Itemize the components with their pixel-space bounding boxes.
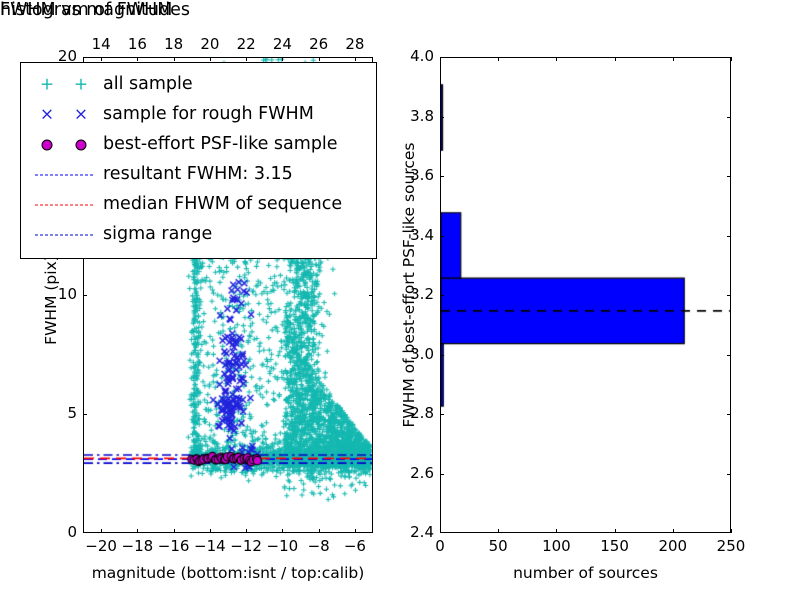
histogram-ytick-mark (440, 117, 444, 118)
scatter-xtick-mark (210, 529, 211, 533)
right-panel-title: histogram of FWHM (0, 0, 172, 20)
scatter-top-xtick-mark (246, 57, 247, 61)
histogram-ytick-mark (440, 414, 444, 415)
histogram-ytick-mark (727, 236, 731, 237)
histogram-top-xtick-mark (731, 57, 732, 61)
histogram-xtick-mark (673, 529, 674, 533)
histogram-ytick-mark (727, 532, 731, 533)
histogram-axes (440, 57, 731, 533)
histogram-y-axis-label: FWHM of best-effort PSF-like sources (400, 50, 418, 520)
histogram-ytick-mark (727, 355, 731, 356)
scatter-xtick-label: −6 (330, 537, 380, 555)
scatter-top-xtick-mark (174, 57, 175, 61)
scatter-top-xtick-mark (319, 57, 320, 61)
legend-item-label: all sample (99, 76, 193, 94)
scatter-xtick-mark (282, 529, 283, 533)
legend-item-label: median FHWM of sequence (99, 196, 342, 214)
histogram-xtick-label: 150 (590, 537, 640, 555)
dashdot-line-icon (29, 222, 99, 248)
scatter-x-axis-label: magnitude (bottom:isnt / top:calib) (83, 564, 373, 582)
histogram-top-xtick-mark (498, 57, 499, 61)
legend-item[interactable]: sigma range (21, 220, 376, 250)
legend-box: + + all sample × × sample for rough FWHM… (20, 62, 377, 259)
histogram-ytick-mark (440, 236, 444, 237)
scatter-top-xtick-mark (101, 57, 102, 61)
legend-item-label: sample for rough FWHM (99, 106, 314, 124)
scatter-ytick-mark (369, 57, 373, 58)
histogram-ytick-mark (727, 414, 731, 415)
histogram-ytick-mark (727, 57, 731, 58)
legend-item-label: resultant FWHM: 3.15 (99, 166, 293, 184)
histogram-ytick-mark (440, 295, 444, 296)
scatter-xtick-mark (319, 529, 320, 533)
histogram-x-axis-label: number of sources (440, 564, 731, 582)
histogram-xtick-label: 250 (706, 537, 756, 555)
histogram-xtick-label: 200 (648, 537, 698, 555)
legend-item[interactable]: best-effort PSF-like sample (21, 130, 376, 160)
histogram-ytick-mark (440, 474, 444, 475)
scatter-ytick-mark (369, 295, 373, 296)
cross-marker-icon: × × (29, 102, 99, 128)
scatter-ytick-label: 0 (31, 523, 77, 541)
histogram-ytick-mark (440, 355, 444, 356)
scatter-top-xtick-mark (355, 57, 356, 61)
dashed-line-icon (29, 192, 99, 218)
histogram-xtick-mark (498, 529, 499, 533)
histogram-top-xtick-mark (673, 57, 674, 61)
scatter-xtick-mark (246, 529, 247, 533)
legend-item-label: best-effort PSF-like sample (99, 136, 338, 154)
scatter-xtick-mark (355, 529, 356, 533)
histogram-ytick-mark (727, 117, 731, 118)
legend-item[interactable]: + + all sample (21, 70, 376, 100)
histogram-ytick-mark (440, 57, 444, 58)
scatter-xtick-mark (174, 529, 175, 533)
scatter-ytick-label: 5 (31, 404, 77, 422)
histogram-ytick-mark (727, 176, 731, 177)
scatter-ytick-mark (369, 532, 373, 533)
legend-item[interactable]: resultant FWHM: 3.15 (21, 160, 376, 190)
scatter-top-xtick-mark (282, 57, 283, 61)
scatter-ytick-mark (83, 414, 87, 415)
histogram-ytick-label: 2.4 (384, 523, 434, 541)
histogram-ytick-mark (440, 176, 444, 177)
legend-item[interactable]: × × sample for rough FWHM (21, 100, 376, 130)
legend-item-label: sigma range (99, 226, 212, 244)
scatter-ytick-mark (83, 295, 87, 296)
scatter-top-xtick-mark (137, 57, 138, 61)
scatter-ytick-mark (83, 532, 87, 533)
legend-item[interactable]: median FHWM of sequence (21, 190, 376, 220)
scatter-ytick-mark (369, 414, 373, 415)
histogram-plot-area (441, 58, 730, 532)
histogram-ytick-mark (727, 295, 731, 296)
dashed-line-icon (29, 162, 99, 188)
histogram-ytick-mark (440, 532, 444, 533)
figure-canvas: FWHM vs magnitudes 1416182022242628 −20−… (0, 0, 800, 600)
histogram-xtick-label: 50 (473, 537, 523, 555)
scatter-top-xtick-mark (210, 57, 211, 61)
histogram-xtick-label: 100 (531, 537, 581, 555)
histogram-xtick-mark (615, 529, 616, 533)
histogram-ytick-mark (727, 474, 731, 475)
scatter-xtick-mark (137, 529, 138, 533)
histogram-xtick-mark (731, 529, 732, 533)
filled-circle-marker-icon (29, 132, 99, 158)
scatter-xtick-mark (101, 529, 102, 533)
histogram-xtick-mark (556, 529, 557, 533)
plus-marker-icon: + + (29, 72, 99, 98)
scatter-top-xtick-label: 28 (330, 35, 380, 53)
histogram-top-xtick-mark (615, 57, 616, 61)
histogram-top-xtick-mark (556, 57, 557, 61)
scatter-ytick-mark (83, 57, 87, 58)
